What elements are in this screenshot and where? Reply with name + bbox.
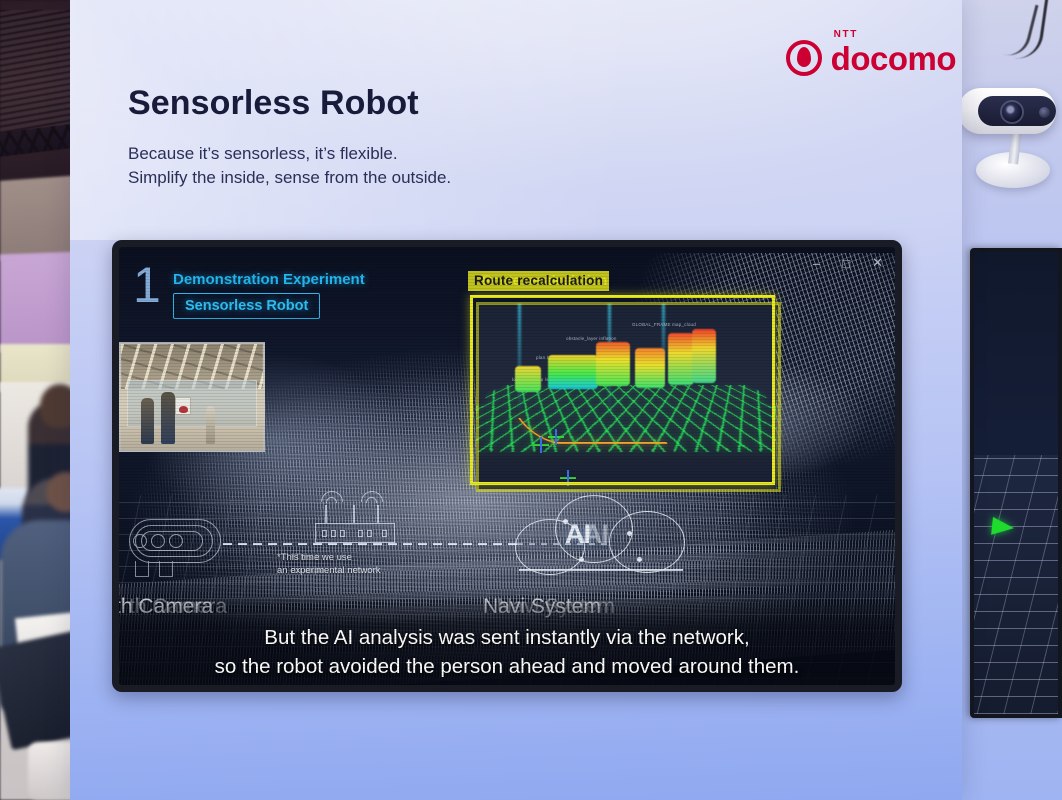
- minimize-icon[interactable]: –: [813, 256, 820, 271]
- close-icon[interactable]: ✕: [872, 255, 883, 271]
- video-caption: But the AI analysis was sent instantly v…: [119, 623, 895, 681]
- monitor-screen: 1 Demonstration Experiment Sensorless Ro…: [119, 247, 895, 685]
- network-note-line-1: *This time we use: [277, 552, 381, 565]
- maximize-icon[interactable]: □: [842, 256, 850, 271]
- experiment-number: 1: [133, 263, 161, 308]
- poster-panel: Sensorless Robot Because it’s sensorless…: [70, 0, 962, 800]
- page-subtitle: Because it’s sensorless, it’s flexible. …: [128, 142, 451, 190]
- subtitle-line-1: Because it’s sensorless, it’s flexible.: [128, 142, 451, 166]
- camera-lens-icon: [1039, 107, 1050, 118]
- caption-line-2: so the robot avoided the person ahead an…: [119, 652, 895, 681]
- camera-lens-icon: [1002, 102, 1022, 122]
- docomo-logo: NTT docomo: [786, 40, 956, 76]
- network-note: *This time we use an experimental networ…: [277, 552, 381, 578]
- subtitle-line-2: Simplify the inside, sense from the outs…: [128, 166, 451, 190]
- caption-line-1: But the AI analysis was sent instantly v…: [119, 623, 895, 652]
- feed-person: [206, 406, 215, 444]
- highlight-box: [470, 295, 775, 485]
- feed-signage: [175, 397, 191, 415]
- window-controls[interactable]: – □ ✕: [813, 255, 883, 271]
- ai-label: AI: [565, 519, 590, 550]
- ntt-label: NTT: [834, 29, 858, 40]
- demonstration-experiment-label: Demonstration Experiment: [173, 271, 365, 288]
- camera-feed-inset: [119, 342, 265, 452]
- robot-icon: [129, 517, 225, 565]
- feed-person: [161, 392, 175, 444]
- network-link-line: [223, 543, 523, 545]
- wifi-router-icon: [315, 487, 395, 543]
- docomo-wordmark: NTT docomo: [831, 42, 956, 75]
- route-recalculation-label: Route recalculation: [468, 271, 609, 291]
- secondary-monitor-grid: [970, 455, 1062, 714]
- docomo-mark-icon: [786, 40, 822, 76]
- robot-marker-icon: [991, 517, 1015, 537]
- feed-person: [141, 398, 154, 444]
- network-note-line-2: an experimental network: [277, 565, 381, 578]
- sensorless-robot-chip: Sensorless Robot: [173, 293, 320, 319]
- screenshot-root: Sensorless Robot Because it’s sensorless…: [0, 0, 1062, 800]
- page-title: Sensorless Robot: [128, 84, 419, 123]
- ai-cloud-icon: AI AI: [509, 485, 699, 577]
- secondary-monitor: [970, 248, 1062, 718]
- docomo-label: docomo: [831, 42, 956, 75]
- wall-monitor: 1 Demonstration Experiment Sensorless Ro…: [112, 240, 902, 692]
